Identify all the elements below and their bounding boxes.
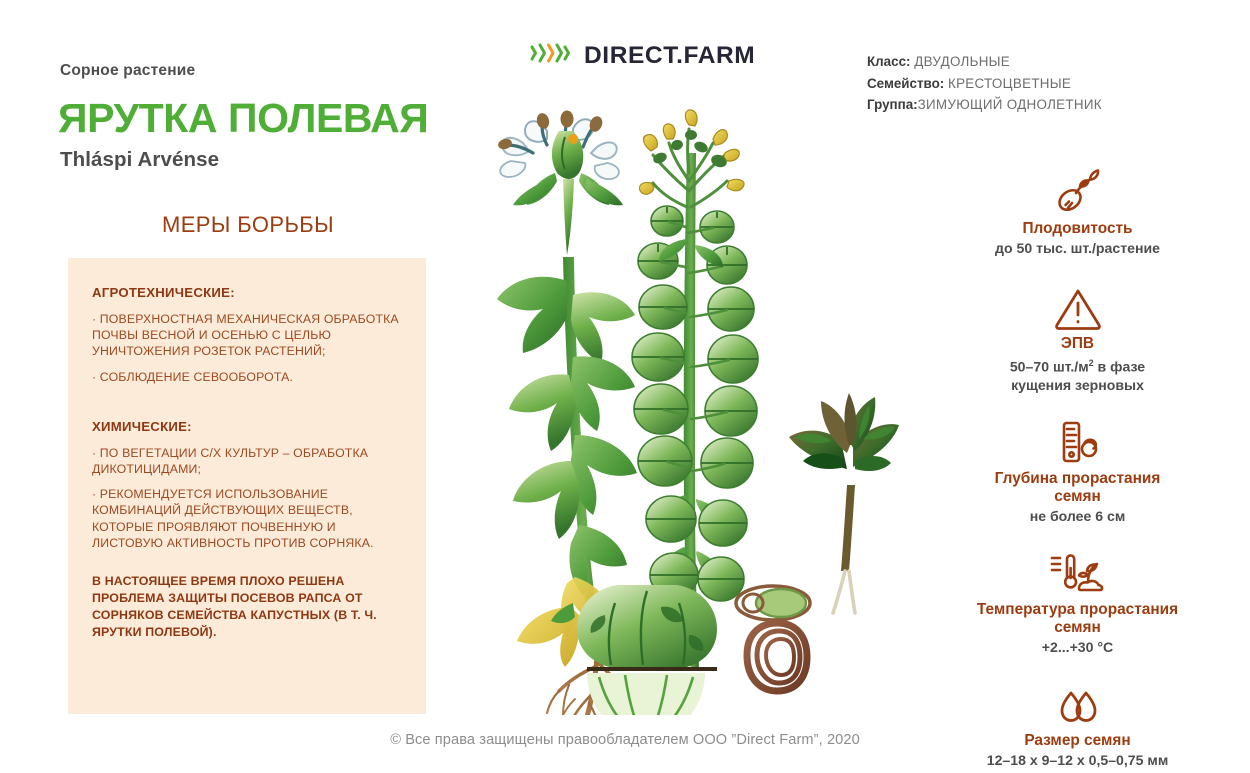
fact-value: до 50 тыс. шт./растение — [905, 239, 1250, 257]
brand-name: DIRECT.FARM — [584, 42, 755, 70]
fact-title: Глубина прорастания — [905, 470, 1250, 488]
fact-epv-threshold: ЭПВ 50–70 шт./м2 в фазе кущения зерновых — [905, 275, 1250, 394]
classification-value: КРЕСТОЦВЕТНЫЕ — [948, 76, 1071, 91]
seedling — [789, 393, 899, 613]
fact-value: не более 6 см — [905, 507, 1250, 525]
fact-value-main: 50–70 шт./м — [1010, 359, 1089, 375]
warning-triangle-icon — [905, 275, 1250, 331]
measures-note: В НАСТОЯЩЕЕ ВРЕМЯ ПЛОХО РЕШЕНА ПРОБЛЕМА … — [92, 573, 404, 641]
chemical-item: · ПО ВЕГЕТАЦИИ С/Х КУЛЬТУР – ОБРАБОТКА Д… — [92, 445, 404, 477]
classification-label: Класс: — [867, 54, 910, 69]
ruler-seeds-icon — [905, 410, 1250, 466]
agrotechnical-item: · СОБЛЮДЕНИЕ СЕВООБОРОТА. — [92, 369, 404, 385]
fact-germination-depth: Глубина прорастания семян не более 6 см — [905, 410, 1250, 525]
fact-value-line2: кущения зерновых — [905, 376, 1250, 394]
fact-value: +2...+30 °C — [905, 638, 1250, 656]
classification-label: Семейство: — [867, 76, 944, 91]
fact-title-line2: семян — [905, 488, 1250, 506]
infographic-page: Сорное растение ЯРУТКА ПОЛЕВАЯ Thláspi A… — [0, 0, 1250, 773]
measures-section-title: МЕРЫ БОРЬБЫ — [68, 212, 428, 238]
fact-title-line2: семян — [905, 619, 1250, 637]
fact-title: Плодовитость — [905, 220, 1250, 238]
thermometer-sprout-icon — [905, 541, 1250, 597]
fact-value: 50–70 шт./м2 в фазе — [905, 354, 1250, 376]
fact-title: ЭПВ — [905, 335, 1250, 353]
classification-value: ДВУДОЛЬНЫЕ — [914, 54, 1010, 69]
chemical-heading: ХИМИЧЕСКИЕ: — [92, 419, 404, 434]
fact-value-tail: в фазе — [1094, 359, 1146, 375]
silicula-pod-closeup — [577, 585, 717, 715]
classification-row-class: Класс: ДВУДОЛЬНЫЕ — [867, 51, 1102, 73]
footer-copyright: © Все права защищены правообладателем ОО… — [0, 732, 1250, 748]
flower-closeup — [497, 111, 623, 256]
page-title: ЯРУТКА ПОЛЕВАЯ — [58, 98, 428, 139]
agrotechnical-item: · ПОВЕРХНОСТНАЯ МЕХАНИЧЕСКАЯ ОБРАБОТКА П… — [92, 311, 404, 360]
chevrons-icon — [529, 41, 571, 70]
measures-box: АГРОТЕХНИЧЕСКИЕ: · ПОВЕРХНОСТНАЯ МЕХАНИЧ… — [68, 258, 426, 714]
fact-fecundity: Плодовитость до 50 тыс. шт./растение — [905, 160, 1250, 257]
facts-column: Плодовитость до 50 тыс. шт./растение ЭПВ… — [905, 160, 1250, 773]
seed-closeup — [736, 586, 810, 691]
fact-seed-size: Размер семян 12–18 x 9–12 x 0,5–0,75 мм — [905, 672, 1250, 769]
two-seeds-icon — [905, 672, 1250, 728]
plant-illustration — [455, 95, 925, 715]
chemical-item: · РЕКОМЕНДУЕТСЯ ИСПОЛЬЗОВАНИЕ КОМБИНАЦИЙ… — [92, 486, 404, 551]
sprouting-seed-icon — [905, 160, 1250, 216]
classification-value: ЗИМУЮЩИЙ ОДНОЛЕТНИК — [918, 97, 1102, 112]
agrotechnical-heading: АГРОТЕХНИЧЕСКИЕ: — [92, 285, 404, 300]
plant-latin-name: Thláspi Arvénse — [60, 148, 219, 172]
fact-germination-temperature: Температура прорастания семян +2...+30 °… — [905, 541, 1250, 656]
fact-title: Температура прорастания — [905, 601, 1250, 619]
brand-logo[interactable]: DIRECT.FARM — [529, 41, 755, 70]
kicker-label: Сорное растение — [60, 62, 195, 80]
classification-row-family: Семейство: КРЕСТОЦВЕТНЫЕ — [867, 73, 1102, 95]
fact-value: 12–18 x 9–12 x 0,5–0,75 мм — [905, 751, 1250, 769]
